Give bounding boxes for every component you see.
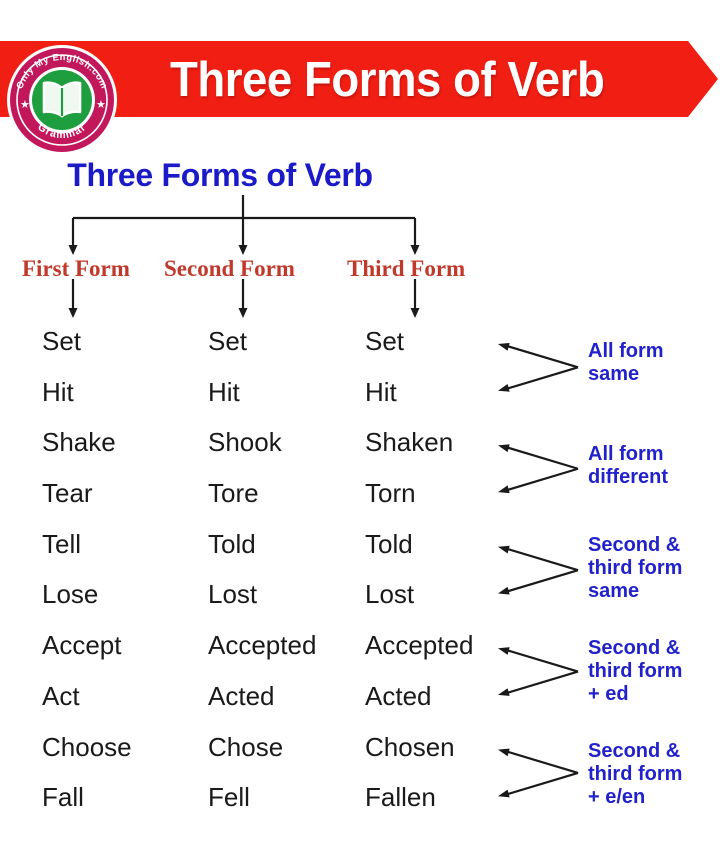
verb-cell-second: Lost <box>208 579 257 610</box>
site-logo[interactable]: ★ ★ Only My English.com Grammar <box>6 44 118 156</box>
annotation-arrow-line <box>507 570 578 591</box>
annotation-arrow-line <box>507 346 578 367</box>
annotation-arrow <box>497 442 578 496</box>
annotation-arrow-line <box>507 773 578 794</box>
annotation-label: All form different <box>588 443 668 489</box>
verb-cell-first: Lose <box>42 579 98 610</box>
verb-cell-third: Set <box>365 326 404 357</box>
banner-title: Three Forms of Verb <box>170 47 616 113</box>
verb-cell-third: Torn <box>365 478 416 509</box>
verb-cell-first: Shake <box>42 427 116 458</box>
verb-cell-second: Set <box>208 326 247 357</box>
column-arrowhead-2 <box>239 308 248 318</box>
verb-cell-second: Accepted <box>208 630 316 661</box>
logo-star-left: ★ <box>20 98 30 111</box>
annotation-label: Second & third form same <box>588 534 682 603</box>
verb-cell-third: Chosen <box>365 732 455 763</box>
annotation-arrow <box>497 340 578 394</box>
verb-row: ActActedActed <box>0 681 500 732</box>
verb-cell-third: Shaken <box>365 427 453 458</box>
verb-cell-first: Hit <box>42 377 74 408</box>
verb-cell-first: Tell <box>42 529 81 560</box>
verb-cell-first: Act <box>42 681 80 712</box>
annotation-arrow-line <box>507 549 578 570</box>
verb-row: FallFellFallen <box>0 782 500 833</box>
annotation-label: Second & third form + e/en <box>588 740 682 809</box>
verb-cell-third: Lost <box>365 579 414 610</box>
open-book-icon <box>44 83 80 116</box>
verb-table: SetSetSetHitHitHitShakeShookShakenTearTo… <box>0 326 500 833</box>
verb-row: ChooseChoseChosen <box>0 732 500 783</box>
column-arrowhead-1 <box>69 308 78 318</box>
tree-arrowhead-2 <box>239 245 248 255</box>
annotation-arrow-line <box>507 469 578 490</box>
annotation-label: All form same <box>588 340 664 386</box>
annotation-arrow-line <box>507 752 578 773</box>
verb-cell-first: Tear <box>42 478 93 509</box>
annotation-label: Second & third form + ed <box>588 637 682 706</box>
verb-cell-first: Set <box>42 326 81 357</box>
verb-cell-first: Choose <box>42 732 132 763</box>
verb-cell-third: Fallen <box>365 782 436 813</box>
verb-row: LoseLostLost <box>0 579 500 630</box>
verb-cell-second: Told <box>208 529 256 560</box>
verb-row: SetSetSet <box>0 326 500 377</box>
verb-cell-second: Shook <box>208 427 282 458</box>
verb-row: AcceptAcceptedAccepted <box>0 630 500 681</box>
verb-cell-second: Hit <box>208 377 240 408</box>
column-header-second-form: Second Form <box>164 256 295 282</box>
annotation-arrow <box>497 644 578 698</box>
verb-row: ShakeShookShaken <box>0 427 500 478</box>
verb-cell-second: Acted <box>208 681 275 712</box>
verb-cell-third: Accepted <box>365 630 473 661</box>
verb-cell-third: Acted <box>365 681 432 712</box>
verb-cell-second: Tore <box>208 478 259 509</box>
annotation-arrow-line <box>507 672 578 693</box>
annotation-arrow <box>497 543 578 597</box>
column-header-first-form: First Form <box>22 256 130 282</box>
column-arrowhead-3 <box>411 308 420 318</box>
page-title: Three Forms of Verb <box>0 157 440 194</box>
verb-cell-second: Fell <box>208 782 250 813</box>
verb-cell-second: Chose <box>208 732 283 763</box>
verb-row: HitHitHit <box>0 377 500 428</box>
verb-row: TearToreTorn <box>0 478 500 529</box>
verb-cell-third: Hit <box>365 377 397 408</box>
annotation-arrow-line <box>507 650 578 671</box>
verb-cell-first: Fall <box>42 782 84 813</box>
annotation-arrow <box>497 746 578 800</box>
logo-star-right: ★ <box>96 98 106 111</box>
verb-cell-first: Accept <box>42 630 122 661</box>
verb-row: TellToldTold <box>0 529 500 580</box>
tree-arrowhead-3 <box>411 245 420 255</box>
annotation-arrow-line <box>507 367 578 388</box>
tree-arrowhead-1 <box>69 245 78 255</box>
annotation-arrow-line <box>507 447 578 468</box>
column-header-third-form: Third Form <box>347 256 465 282</box>
verb-cell-third: Told <box>365 529 413 560</box>
